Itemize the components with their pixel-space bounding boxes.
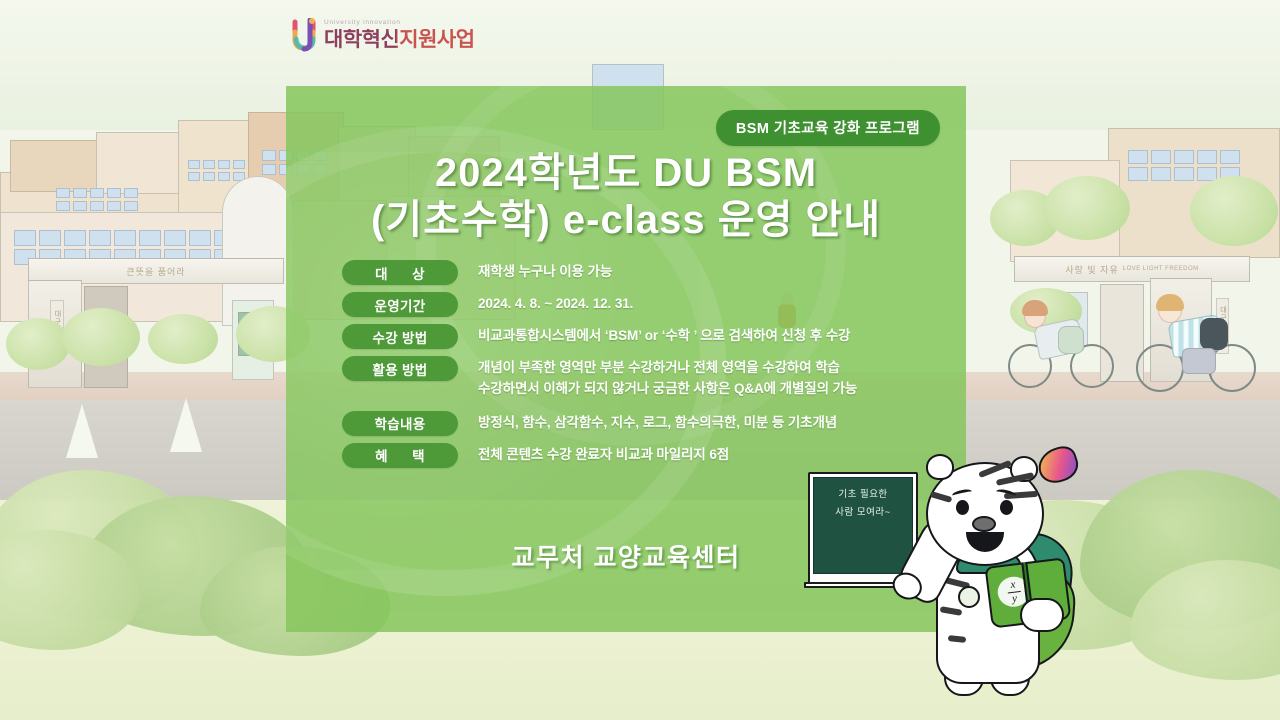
info-row: 활용 방법 개념이 부족한 영역만 부분 수강하거나 전체 영역을 수강하여 학… [342,356,952,400]
info-value-line: 수강하면서 이해가 되지 않거나 궁금한 사항은 Q&A에 개별질의 가능 [478,379,857,400]
info-value: 비교과통합시스템에서 ‘BSM’ or ‘수학 ’ 으로 검색하여 신청 후 수… [478,324,850,347]
info-row: 수강 방법 비교과통합시스템에서 ‘BSM’ or ‘수학 ’ 으로 검색하여 … [342,324,952,349]
mascot-eye-right [1000,500,1013,515]
info-value: 개념이 부족한 영역만 부분 수강하거나 전체 영역을 수강하여 학습 수강하면… [478,356,857,400]
info-label: 대 상 [342,260,458,285]
cyclist-backpack [1058,326,1084,354]
info-value-line: 재학생 누구나 이용 가능 [478,262,612,283]
cyclist-hair [1022,300,1048,316]
book-denominator: y [1011,592,1017,605]
info-value-line: 전체 콘텐츠 수강 완료자 비교과 마일리지 6점 [478,445,729,466]
left-gate-text: 큰뜻을 품어라 [126,265,185,278]
info-table: 대 상 재학생 누구나 이용 가능 운영기간 2024. 4. 8. ~ 202… [342,260,952,475]
conifer-tree [66,404,98,458]
conifer-tree [170,398,202,452]
mascot-lower-arm [1020,598,1064,632]
mascot-eye-left [956,500,969,515]
info-value: 2024. 4. 8. ~ 2024. 12. 31. [478,292,633,315]
info-value: 전체 콘텐츠 수강 완료자 비교과 마일리지 6점 [478,443,729,466]
info-value-line: 비교과통합시스템에서 ‘BSM’ or ‘수학 ’ 으로 검색하여 신청 후 수… [478,326,850,347]
info-value-line: 방정식, 함수, 삼각함수, 지수, 로그, 함수의극한, 미분 등 기초개념 [478,413,837,434]
tiger-mascot: x y [900,440,1130,710]
cyclist-backpack [1200,318,1228,350]
mascot-ear-left [926,454,954,480]
title-line-1: 2024학년도 DU BSM [435,151,817,195]
logo-tagline: University innovation [324,20,475,27]
info-label: 학습내용 [342,411,458,436]
mascot-nose [972,516,996,532]
tree [148,314,218,364]
info-label: 활용 방법 [342,356,458,381]
right-gate-beam: 사랑 빛 자유 LOVE LIGHT FREEDOM [1014,256,1250,282]
info-value: 방정식, 함수, 삼각함수, 지수, 로그, 함수의극한, 미분 등 기초개념 [478,411,837,434]
program-badge: BSM 기초교육 강화 프로그램 [716,110,940,146]
book-fraction: x y [1006,579,1022,605]
info-row: 운영기간 2024. 4. 8. ~ 2024. 12. 31. [342,292,952,317]
poster-canvas: 큰뜻을 품어라 대구대학교 사랑 빛 자유 LOVE LIGHT FREEDOM… [0,0,1280,720]
right-gate-text-ko: 사랑 빛 자유 [1065,263,1118,276]
info-value-line: 개념이 부족한 영역만 부분 수강하거나 전체 영역을 수강하여 학습 [478,358,857,379]
mascot-medal [958,586,980,608]
cyclist-legs [1182,348,1216,374]
mascot-hair-accessory [1034,443,1083,488]
book-numerator: x [1010,578,1016,591]
info-value-line: 2024. 4. 8. ~ 2024. 12. 31. [478,294,633,315]
cyclist-hair [1156,294,1184,311]
tree [1190,176,1278,246]
info-label: 운영기간 [342,292,458,317]
window-grid [188,160,245,181]
cyclist [1006,300,1126,392]
info-row: 대 상 재학생 누구나 이용 가능 [342,260,952,285]
campus-building [10,140,102,192]
tree [1044,176,1130,240]
cyclist [1136,296,1266,394]
right-gate-text-en: LOVE LIGHT FREEDOM [1123,266,1199,272]
info-row: 학습내용 방정식, 함수, 삼각함수, 지수, 로그, 함수의극한, 미분 등 … [342,411,952,436]
logo-name: 대학혁신지원사업 [324,29,475,50]
info-label: 수강 방법 [342,324,458,349]
tree [62,308,140,366]
university-innovation-logo: University innovation 대학혁신지원사업 [292,18,475,52]
title-line-2: (기초수학) e-class 운영 안내 [286,197,966,244]
poster-title: 2024학년도 DU BSM (기초수학) e-class 운영 안내 [286,150,966,244]
campus-building [96,132,182,194]
info-row: 혜 택 전체 콘텐츠 수강 완료자 비교과 마일리지 6점 [342,443,952,468]
info-label: 혜 택 [342,443,458,468]
logo-u-icon [292,18,318,52]
window-grid [56,188,138,211]
tree [6,318,70,370]
info-value: 재학생 누구나 이용 가능 [478,260,612,283]
